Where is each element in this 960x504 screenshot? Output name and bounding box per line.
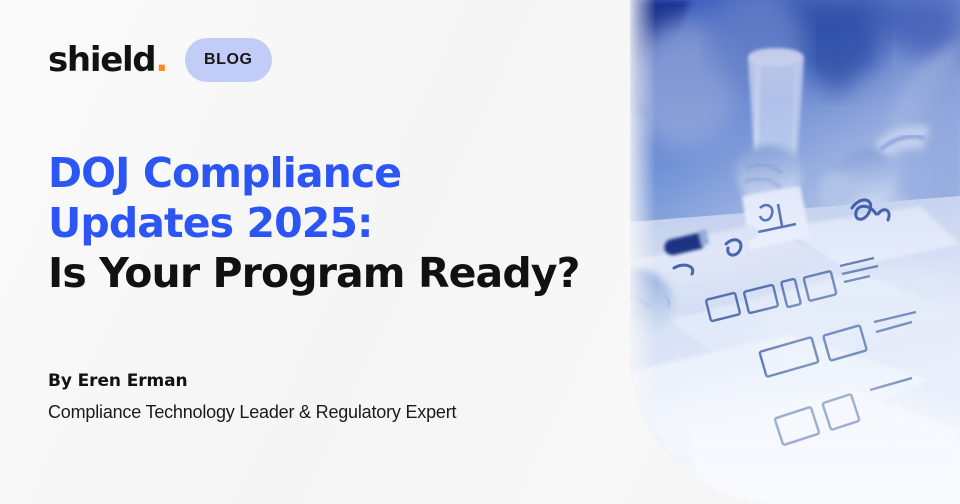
headline-line-2: Updates 2025: xyxy=(48,198,630,248)
content-pane: shield. BLOG DOJ Compliance Updates 2025… xyxy=(0,0,630,504)
hero-photo-illustration xyxy=(630,0,960,504)
blog-badge[interactable]: BLOG xyxy=(185,38,272,82)
page-title: DOJ Compliance Updates 2025: Is Your Pro… xyxy=(48,148,630,298)
headline-line-1: DOJ Compliance xyxy=(48,148,630,198)
headline-line-3: Is Your Program Ready? xyxy=(48,248,630,298)
author-name: By Eren Erman xyxy=(48,370,456,392)
author-block: By Eren Erman Compliance Technology Lead… xyxy=(48,370,456,424)
logo-dot-icon: . xyxy=(155,43,167,77)
author-role: Compliance Technology Leader & Regulator… xyxy=(48,400,456,424)
hero-photo xyxy=(630,0,960,504)
brand-row: shield. BLOG xyxy=(48,38,630,82)
logo-wordmark-text: shield xyxy=(48,43,155,77)
shield-logo[interactable]: shield. xyxy=(48,43,167,77)
blog-banner: shield. BLOG DOJ Compliance Updates 2025… xyxy=(0,0,960,504)
